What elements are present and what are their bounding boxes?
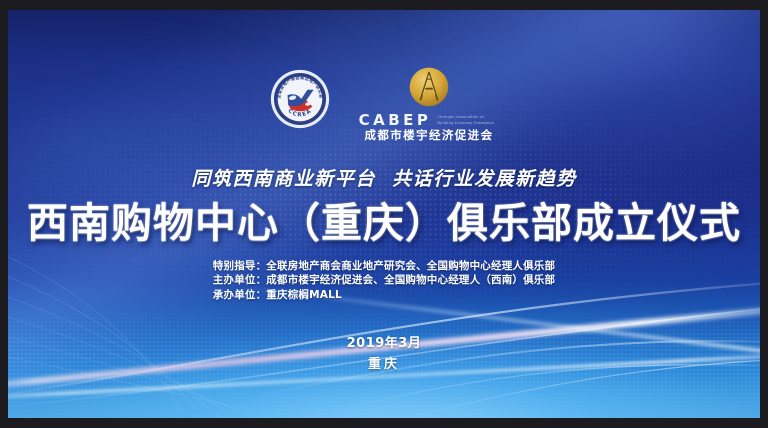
poster-content: 全联房地产商会商业地产研究会 CCREA bbox=[8, 10, 760, 418]
cabep-english-name: Chengdu Association of Building Economy … bbox=[437, 115, 499, 126]
poster-title: 西南购物中心（重庆）俱乐部成立仪式 bbox=[27, 202, 741, 245]
cabep-wordmark-row: CABEP Chengdu Association of Building Ec… bbox=[359, 113, 500, 128]
poster-footer: 2019年3月 重庆 bbox=[347, 332, 422, 372]
cabep-emblem-icon bbox=[408, 66, 450, 108]
event-city: 重庆 bbox=[368, 353, 400, 372]
banner-frame: 全联房地产商会商业地产研究会 CCREA bbox=[0, 0, 768, 428]
cabep-acronym: CABEP bbox=[359, 113, 432, 128]
event-poster: 全联房地产商会商业地产研究会 CCREA bbox=[8, 10, 760, 418]
credit-line-host: 承办单位：重庆棕榈MALL bbox=[213, 289, 342, 303]
credit-line-guidance: 特别指导：全联房地产商会商业地产研究会、全国购物中心经理人俱乐部 bbox=[213, 260, 555, 274]
ccrea-logo-icon: 全联房地产商会商业地产研究会 CCREA bbox=[269, 68, 331, 130]
poster-subtitle: 同筑西南商业新平台 共话行业发展新趋势 bbox=[191, 164, 576, 191]
logo-row: 全联房地产商会商业地产研究会 CCREA bbox=[269, 68, 500, 142]
credit-line-organizer: 主办单位：成都市楼宇经济促进会、全国购物中心经理人（西南）俱乐部 bbox=[213, 274, 555, 288]
event-date: 2019年3月 bbox=[347, 332, 422, 351]
cabep-chinese-name: 成都市楼宇经济促进会 bbox=[364, 130, 493, 142]
credits-block: 特别指导：全联房地产商会商业地产研究会、全国购物中心经理人俱乐部 主办单位：成都… bbox=[213, 260, 555, 304]
cabep-logo-block: CABEP Chengdu Association of Building Ec… bbox=[359, 66, 500, 142]
